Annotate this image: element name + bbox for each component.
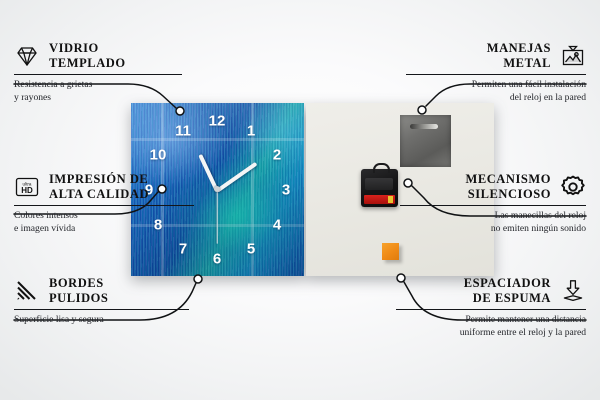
clock-numeral-3: 3 <box>282 183 290 198</box>
callout-desc: Colores intensose imagen vívida <box>14 210 194 236</box>
clock-numeral-6: 6 <box>213 252 221 267</box>
callout-mecanismo-silencioso: MECANISMOSILENCIOSO Las manecillas del r… <box>400 172 586 236</box>
callout-rule <box>396 309 586 310</box>
clock-numeral-2: 2 <box>273 148 281 163</box>
battery-terminal <box>388 196 393 203</box>
callout-title: ESPACIADORDE ESPUMA <box>464 276 551 306</box>
callout-desc: Las manecillas del relojno emiten ningún… <box>400 210 586 236</box>
foam-spacer-pad <box>382 243 399 260</box>
movement-hanger-loop <box>373 163 390 173</box>
press-down-arrow-icon <box>560 278 586 304</box>
callout-manejas-metal: MANEJASMETAL Permiten una fácil instalac… <box>406 41 586 105</box>
clock-second-hand <box>216 190 217 244</box>
movement-housing-detail <box>365 178 393 190</box>
diamond-icon <box>14 43 40 69</box>
infographic-canvas: 12 1 2 3 4 5 6 7 8 9 10 11 <box>0 0 600 400</box>
callout-rule <box>14 74 182 75</box>
callout-head: MANEJASMETAL <box>406 41 586 71</box>
battery <box>364 195 395 204</box>
polished-edge-icon <box>14 278 40 304</box>
callout-head: MECANISMOSILENCIOSO <box>400 172 586 202</box>
callout-title: MANEJASMETAL <box>487 41 551 71</box>
callout-title: BORDESPULIDOS <box>49 276 108 306</box>
svg-text:HD: HD <box>21 186 33 195</box>
callout-head: ultra HD IMPRESIÓN DEALTA CALIDAD <box>14 172 194 202</box>
clock-numeral-5: 5 <box>247 242 255 257</box>
clock-numeral-10: 10 <box>150 148 167 163</box>
clock-numeral-7: 7 <box>179 242 187 257</box>
clock-numeral-1: 1 <box>247 124 255 139</box>
picture-frame-icon <box>560 43 586 69</box>
callout-rule <box>400 205 586 206</box>
callout-head: BORDESPULIDOS <box>14 276 189 306</box>
callout-head: VIDRIOTEMPLADO <box>14 41 182 71</box>
gear-icon <box>560 174 586 200</box>
callout-impresion-alta-calidad: ultra HD IMPRESIÓN DEALTA CALIDAD Colore… <box>14 172 194 236</box>
callout-espaciador-de-espuma: ESPACIADORDE ESPUMA Permite mantener una… <box>396 276 586 340</box>
callout-desc: Resistencia a grietasy rayones <box>14 79 182 105</box>
callout-vidrio-templado: VIDRIOTEMPLADO Resistencia a grietasy ra… <box>14 41 182 105</box>
callout-desc: Permiten una fácil instalacióndel reloj … <box>406 79 586 105</box>
callout-rule <box>14 309 189 310</box>
callout-title: VIDRIOTEMPLADO <box>49 41 126 71</box>
hanger-plate <box>400 115 451 167</box>
callout-desc: Superficie lisa y segura <box>14 314 189 327</box>
callout-desc: Permite mantener una distanciauniforme e… <box>396 314 586 340</box>
ultra-hd-icon: ultra HD <box>14 174 40 200</box>
quartz-movement <box>361 169 398 207</box>
callout-rule <box>14 205 194 206</box>
clock-numeral-11: 11 <box>175 124 191 139</box>
callout-title: MECANISMOSILENCIOSO <box>465 172 551 202</box>
clock-center-cap <box>214 186 220 192</box>
callout-title: IMPRESIÓN DEALTA CALIDAD <box>49 172 149 202</box>
hanger-keyhole-slot <box>410 124 438 129</box>
callout-bordes-pulidos: BORDESPULIDOS Superficie lisa y segura <box>14 276 189 327</box>
clock-numeral-4: 4 <box>273 218 281 233</box>
callout-head: ESPACIADORDE ESPUMA <box>396 276 586 306</box>
leader-dot-bordes <box>194 275 202 283</box>
callout-rule <box>406 74 586 75</box>
clock-numeral-12: 12 <box>209 114 226 129</box>
